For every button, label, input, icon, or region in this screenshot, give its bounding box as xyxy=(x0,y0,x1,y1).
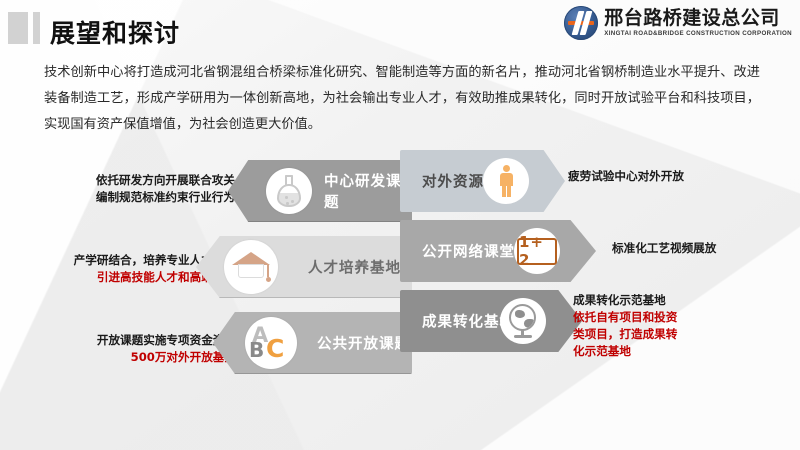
arrow-underline xyxy=(402,283,582,285)
logo-text-block: 邢台路桥建设总公司 XINGTAI ROAD&BRIDGE CONSTRUCTI… xyxy=(604,9,792,37)
right-caption-1: 疲劳试验中心对外开放 xyxy=(568,168,783,185)
arrow-label: 公共开放课题 xyxy=(317,333,410,354)
arrow-label: 中心研发课题 xyxy=(324,170,412,212)
globe-icon xyxy=(500,298,546,344)
company-logo: 邢台路桥建设总公司 XINGTAI ROAD&BRIDGE CONSTRUCTI… xyxy=(564,6,792,40)
arrow-external-resource-platform[interactable]: 对外资源平台 xyxy=(400,150,565,212)
arrow-center-rd-topic[interactable]: 中心研发课题 xyxy=(228,160,412,222)
logo-company-name-cn: 邢台路桥建设总公司 xyxy=(604,9,792,28)
caption-line: 依托研发方向开展联合攻关 xyxy=(60,172,235,189)
title-accent-bar-2 xyxy=(33,12,40,44)
caption-line: 标准化工艺视频展放 xyxy=(612,240,792,257)
arrow-shadow xyxy=(228,221,412,228)
abc-icon: ABC xyxy=(245,317,297,369)
process-diagram: 依托研发方向开展联合攻关 编制规范标准约束行业行为 产学研结合，培养专业人才基地… xyxy=(0,140,800,405)
arrow-talent-base[interactable]: 人才培养基地 xyxy=(196,236,412,298)
arrow-open-online-class[interactable]: 公开网络课堂 1+ 2 xyxy=(400,220,596,282)
caption-line: 成果转化示范基地 xyxy=(573,292,718,309)
left-caption-3: 开放课题实施专项资金资助 500万对外开放基金 xyxy=(58,332,236,366)
caption-line-highlight: 化示范基地 xyxy=(573,343,718,360)
caption-line: 编制规范标准约束行业行为 xyxy=(60,189,235,206)
arrow-shadow xyxy=(213,373,412,380)
calculator-icon: 1+ 2 xyxy=(514,228,560,274)
calculator-icon-text: 1+ 2 xyxy=(519,233,555,269)
caption-line-highlight: 类项目，打造成果转 xyxy=(573,326,718,343)
graduation-cap-icon xyxy=(224,240,278,294)
arrow-label: 人才培养基地 xyxy=(308,257,401,278)
arrow-public-open-topic[interactable]: ABC 公共开放课题 xyxy=(213,312,412,374)
caption-line-highlight: 500万对外开放基金 xyxy=(58,349,236,366)
slide-header: 展望和探讨 邢台路桥建设总公司 XINGTAI ROAD&BRIDGE CONS… xyxy=(0,0,800,52)
left-caption-1: 依托研发方向开展联合攻关 编制规范标准约束行业行为 xyxy=(60,172,235,206)
right-caption-2: 标准化工艺视频展放 xyxy=(612,240,792,257)
right-caption-3: 成果转化示范基地 依托自有项目和投资 类项目，打造成果转 化示范基地 xyxy=(573,292,718,360)
caption-line: 疲劳试验中心对外开放 xyxy=(568,168,783,185)
logo-company-name-en: XINGTAI ROAD&BRIDGE CONSTRUCTION CORPORA… xyxy=(604,31,792,37)
person-icon xyxy=(483,158,529,204)
caption-line-highlight: 依托自有项目和投资 xyxy=(573,309,718,326)
caption-line: 开放课题实施专项资金资助 xyxy=(58,332,236,349)
flask-icon xyxy=(266,168,312,214)
arrow-label: 公开网络课堂 xyxy=(422,241,515,262)
slide-canvas: 展望和探讨 邢台路桥建设总公司 XINGTAI ROAD&BRIDGE CONS… xyxy=(0,0,800,450)
logo-emblem-icon xyxy=(564,6,598,40)
arrow-achievement-transfer-base[interactable]: 成果转化基地 xyxy=(400,290,582,352)
intro-paragraph: 技术创新中心将打造成河北省钢混组合桥梁标准化研究、智能制造等方面的新名片，推动河… xyxy=(44,60,760,138)
arrow-shadow xyxy=(196,297,412,304)
page-title: 展望和探讨 xyxy=(50,14,180,50)
title-accent-bar-1 xyxy=(8,12,28,44)
